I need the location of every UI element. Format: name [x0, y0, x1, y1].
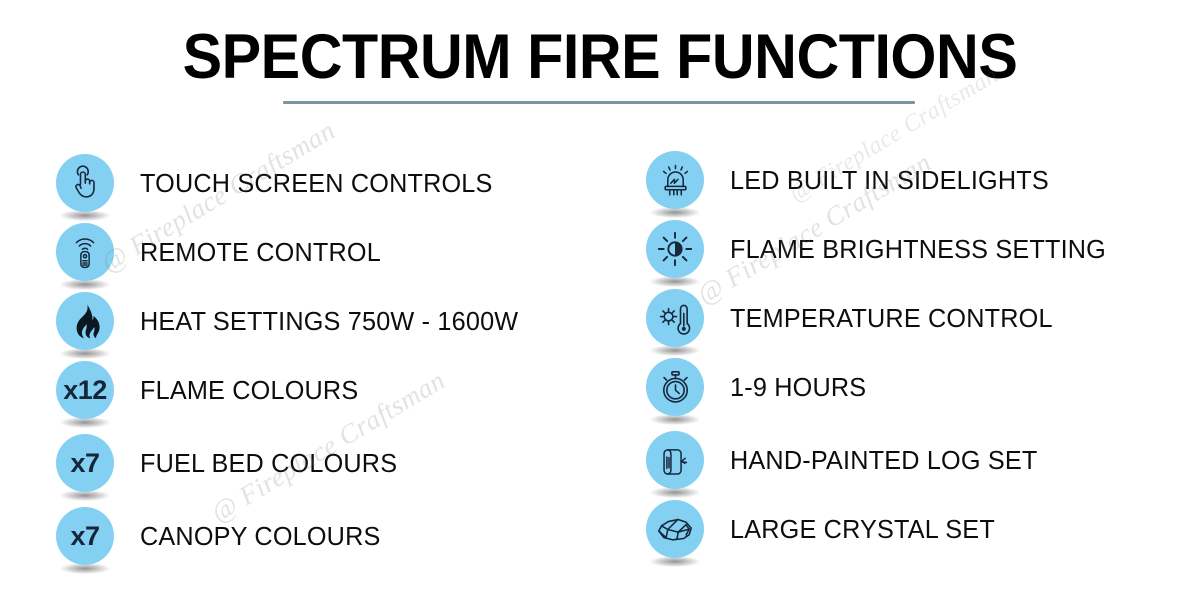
badge-temperature-control [646, 289, 704, 347]
count-badge-x7: x7 [70, 450, 99, 477]
feature-label: LED BUILT IN SIDELIGHTS [730, 165, 1049, 196]
feature-row-touch-screen-controls[interactable]: TOUCH SCREEN CONTROLS [56, 152, 503, 214]
feature-label: FLAME COLOURS [140, 375, 358, 406]
features-column-right: LED BUILT IN SIDELIGHTS FLAME BRIGHTNESS… [646, 0, 1200, 600]
feature-row-temperature-control[interactable]: TEMPERATURE CONTROL [646, 287, 1063, 349]
flame-icon [66, 302, 104, 340]
badge-heat-settings [56, 292, 114, 350]
log-icon [657, 442, 693, 478]
feature-row-crystal-set[interactable]: LARGE CRYSTAL SET [646, 498, 1003, 560]
feature-label: TOUCH SCREEN CONTROLS [140, 168, 493, 199]
feature-row-canopy-colours[interactable]: x7 CANOPY COLOURS [56, 505, 388, 567]
badge-touch-screen [56, 154, 114, 212]
badge-remote-control [56, 223, 114, 281]
feature-row-timer-hours[interactable]: 1-9 HOURS [646, 356, 871, 418]
feature-row-led-sidelights[interactable]: LED BUILT IN SIDELIGHTS [646, 149, 1059, 211]
count-badge-x7: x7 [70, 523, 99, 550]
feature-label: CANOPY COLOURS [140, 521, 380, 552]
badge-flame-brightness [646, 220, 704, 278]
feature-label: REMOTE CONTROL [140, 237, 381, 268]
brightness-sun-icon [656, 230, 694, 268]
badge-led-sidelights [646, 151, 704, 209]
badge-count-x7-canopy: x7 [56, 507, 114, 565]
remote-control-icon [67, 234, 103, 270]
count-badge-x12: x12 [63, 377, 107, 404]
feature-row-flame-colours[interactable]: x12 FLAME COLOURS [56, 359, 365, 421]
stopwatch-icon [657, 369, 694, 406]
feature-row-fuel-bed-colours[interactable]: x7 FUEL BED COLOURS [56, 432, 405, 494]
feature-row-remote-control[interactable]: REMOTE CONTROL [56, 221, 388, 283]
feature-row-heat-settings[interactable]: HEAT SETTINGS 750W - 1600W [56, 290, 530, 352]
feature-label: HAND-PAINTED LOG SET [730, 445, 1038, 476]
feature-label: LARGE CRYSTAL SET [730, 514, 995, 545]
thermometer-icon [657, 300, 694, 337]
badge-crystal-set [646, 500, 704, 558]
badge-count-x12: x12 [56, 361, 114, 419]
feature-row-flame-brightness[interactable]: FLAME BRIGHTNESS SETTING [646, 218, 1118, 280]
features-column-left: TOUCH SCREEN CONTROLS REMOTE CONTROL [56, 0, 616, 600]
feature-label: TEMPERATURE CONTROL [730, 303, 1053, 334]
infographic-canvas: SPECTRUM FIRE FUNCTIONS TOUCH SCREEN CON… [0, 0, 1200, 600]
feature-row-log-set[interactable]: HAND-PAINTED LOG SET [646, 429, 1047, 491]
feature-label: HEAT SETTINGS 750W - 1600W [140, 306, 518, 337]
led-bulb-icon [657, 162, 694, 199]
feature-label: FUEL BED COLOURS [140, 448, 397, 479]
crystal-icon [655, 509, 695, 549]
badge-log-set [646, 431, 704, 489]
badge-count-x7-fuel-bed: x7 [56, 434, 114, 492]
feature-label: FLAME BRIGHTNESS SETTING [730, 234, 1106, 265]
badge-timer-hours [646, 358, 704, 416]
feature-label: 1-9 HOURS [730, 372, 866, 403]
touch-screen-icon [67, 165, 103, 201]
